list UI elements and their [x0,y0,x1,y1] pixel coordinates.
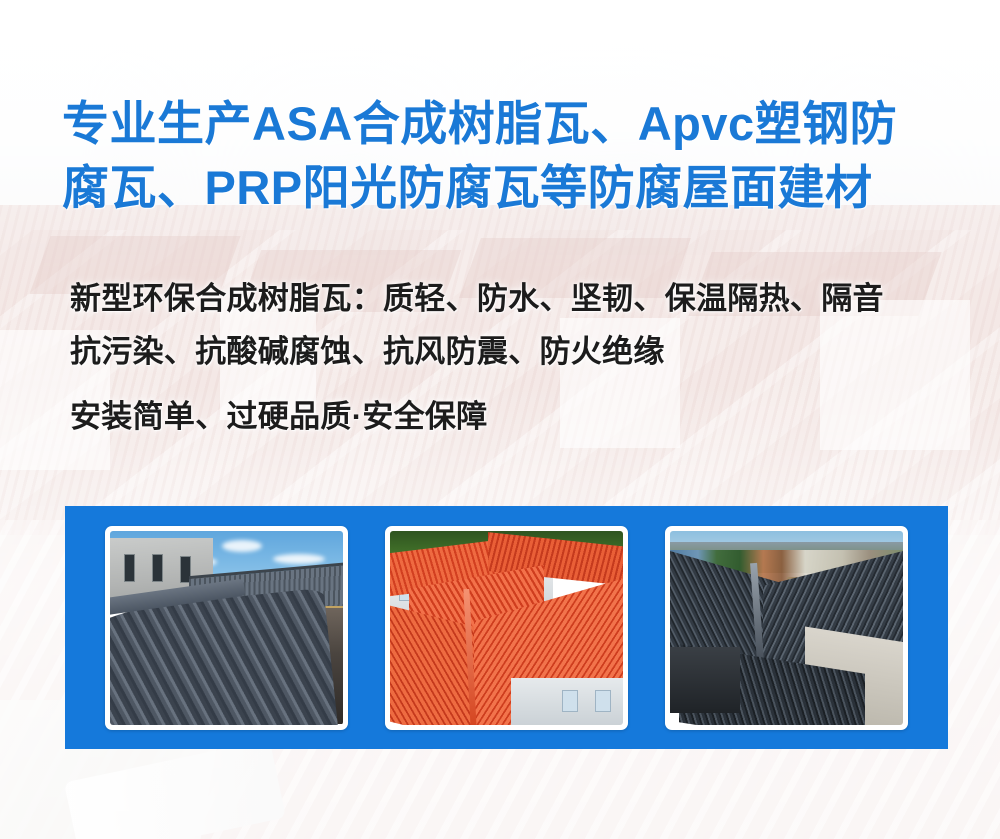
photo-black-resin-tile-roof [670,531,903,725]
subheading-line-2: 抗污染、抗酸碱腐蚀、抗风防震、防火绝缘 [70,325,970,378]
subheading-line-1: 新型环保合成树脂瓦：质轻、防水、坚韧、保温隔热、隔音 [70,272,970,325]
photo3-roof-underside [670,647,740,713]
photo-frame-3[interactable] [665,526,908,730]
subheading-block: 新型环保合成树脂瓦：质轻、防水、坚韧、保温隔热、隔音 抗污染、抗酸碱腐蚀、抗风防… [70,272,970,443]
photo-frame-1[interactable] [105,526,348,730]
photo-dark-grey-resin-tile-roof [110,531,343,725]
photo-frame-2[interactable] [385,526,628,730]
photo1-cloud [273,554,325,564]
headline: 专业生产ASA合成树脂瓦、Apvc塑钢防 腐瓦、PRP阳光防腐瓦等防腐屋面建材 [62,92,952,220]
photo2-window [595,690,611,712]
photo2-window [562,690,578,712]
photo1-window [124,554,135,582]
promo-banner: 专业生产ASA合成树脂瓦、Apvc塑钢防 腐瓦、PRP阳光防腐瓦等防腐屋面建材 … [0,0,1000,839]
headline-line-2: 腐瓦、PRP阳光防腐瓦等防腐屋面建材 [62,156,952,220]
photo-red-resin-tile-roof [390,531,623,725]
photo1-window [152,554,163,582]
photo-gallery-panel [65,506,948,749]
headline-line-1: 专业生产ASA合成树脂瓦、Apvc塑钢防 [62,92,952,156]
subheading-line-3: 安装简单、过硬品质·安全保障 [70,390,970,443]
